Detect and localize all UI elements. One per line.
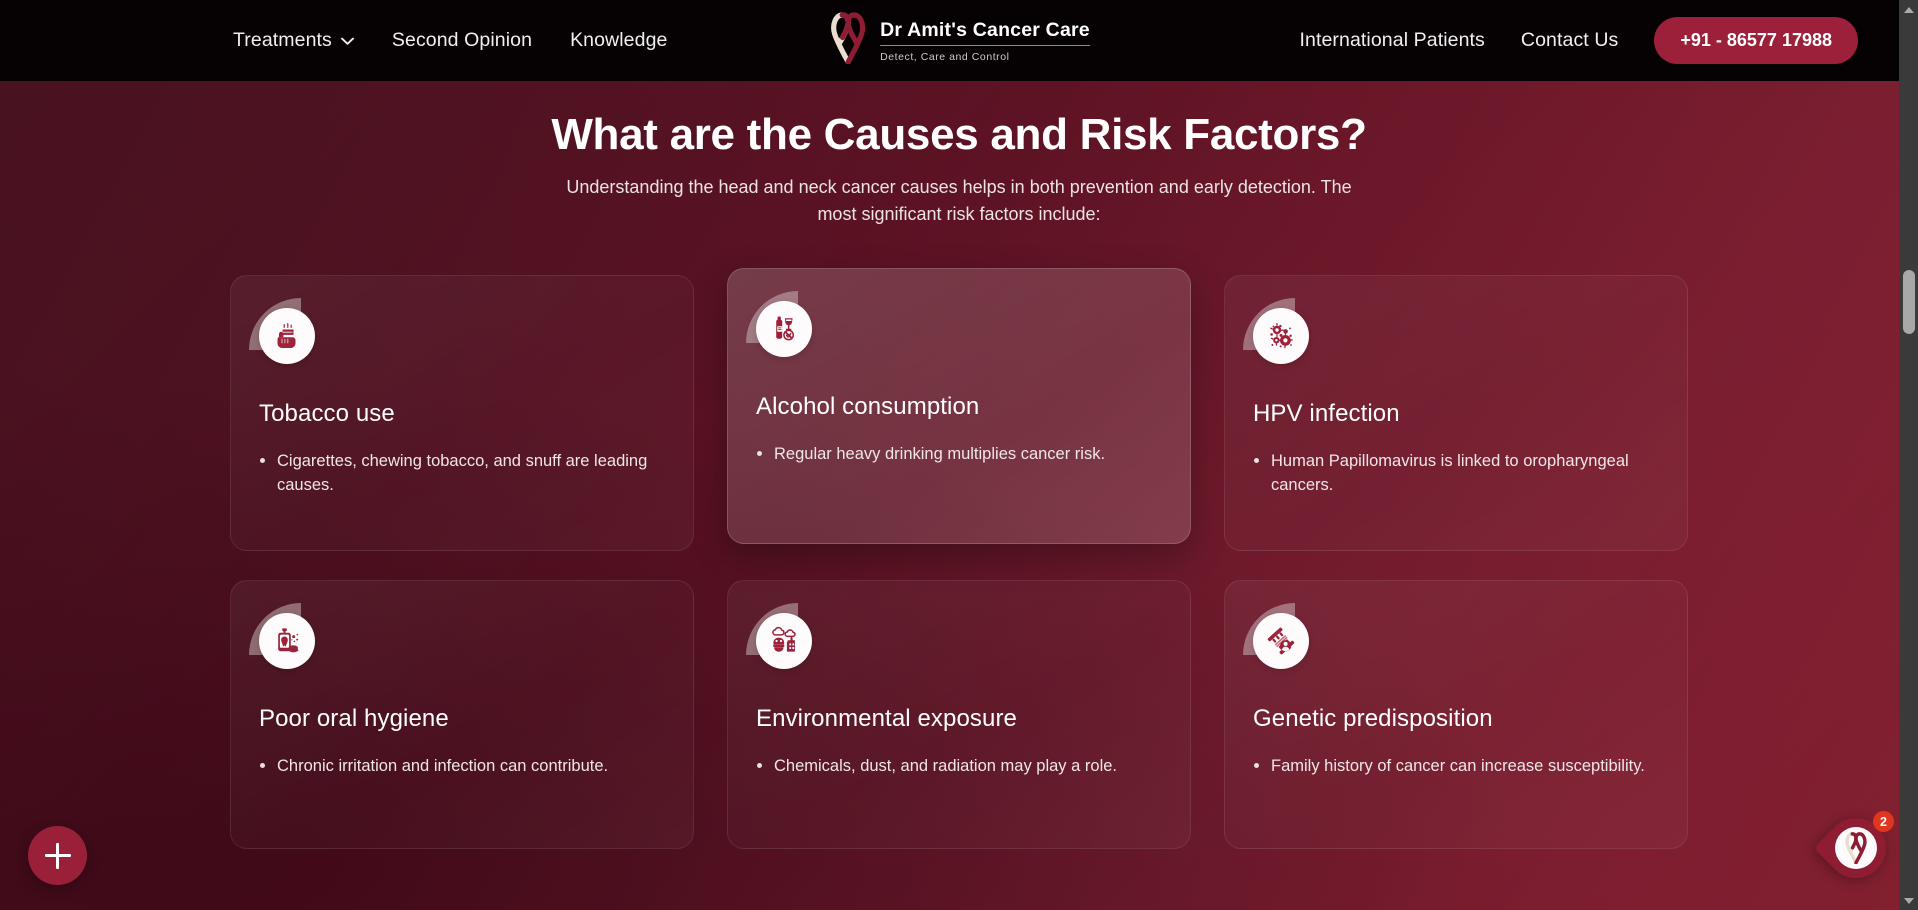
nav-item-treatments-label: Treatments [233, 29, 332, 52]
chat-unread-badge: 2 [1873, 811, 1894, 832]
logo-tagline: Detect, Care and Control [880, 51, 1090, 63]
plus-icon [45, 843, 71, 869]
nav-item-treatments[interactable]: Treatments [233, 29, 354, 52]
risk-factor-card-alcohol-consumption[interactable]: Alcohol consumption Regular heavy drinki… [727, 268, 1191, 544]
card-bullet: Regular heavy drinking multiplies cancer… [756, 443, 1162, 466]
risk-factor-card-hpv-infection[interactable]: HPV infection Human Papillomavirus is li… [1224, 275, 1688, 551]
vertical-scrollbar[interactable] [1899, 0, 1918, 910]
triangle-up-icon[interactable] [1899, 0, 1918, 19]
cigarettes-in-hand-icon [259, 308, 315, 364]
card-bullet-list: Cigarettes, chewing tobacco, and snuff a… [259, 450, 665, 497]
card-bullet-list: Chemicals, dust, and radiation may play … [756, 755, 1162, 778]
dna-person-icon [1253, 613, 1309, 669]
nav-item-knowledge[interactable]: Knowledge [570, 29, 667, 52]
scrollbar-thumb[interactable] [1903, 270, 1915, 334]
page-subtitle: Understanding the head and neck cancer c… [549, 174, 1369, 227]
card-icon-block [756, 613, 822, 679]
primary-navigation-right: International Patients Contact Us +91 - … [1300, 17, 1859, 64]
card-title: Poor oral hygiene [259, 705, 665, 733]
card-bullet: Cigarettes, chewing tobacco, and snuff a… [259, 450, 665, 497]
risk-factor-card-environmental-exposure[interactable]: Environmental exposure Chemicals, dust, … [727, 580, 1191, 849]
card-bullet-list: Family history of cancer can increase su… [1253, 755, 1659, 778]
risk-factor-card-poor-oral-hygiene[interactable]: Poor oral hygiene Chronic irritation and… [230, 580, 694, 849]
card-bullet-list: Human Papillomavirus is linked to oropha… [1253, 450, 1659, 497]
nav-item-second-opinion[interactable]: Second Opinion [392, 29, 532, 52]
toothpaste-tooth-icon [259, 613, 315, 669]
page-background: Treatments Second Opinion Knowledge Dr A… [0, 0, 1918, 910]
alcohol-bottle-glass-icon [756, 301, 812, 357]
phone-call-button[interactable]: +91 - 86577 17988 [1654, 17, 1858, 64]
card-title: Environmental exposure [756, 705, 1162, 733]
risk-factor-card-genetic-predisposition[interactable]: Genetic predisposition Family history of… [1224, 580, 1688, 849]
factory-worker-smoke-icon [756, 613, 812, 669]
main-content: What are the Causes and Risk Factors? Un… [0, 81, 1918, 910]
awareness-ribbon-icon [828, 12, 868, 69]
triangle-down-icon[interactable] [1899, 891, 1918, 910]
awareness-ribbon-icon [1835, 827, 1877, 869]
primary-navigation-left: Treatments Second Opinion Knowledge [233, 29, 667, 52]
chevron-down-icon [341, 37, 354, 45]
page-title: What are the Causes and Risk Factors? [0, 110, 1918, 160]
card-title: HPV infection [1253, 400, 1659, 428]
card-title: Tobacco use [259, 400, 665, 428]
card-icon-block [259, 613, 325, 679]
card-title: Alcohol consumption [756, 393, 1162, 421]
card-bullet: Chronic irritation and infection can con… [259, 755, 665, 778]
risk-factor-card-grid: Tobacco use Cigarettes, chewing tobacco,… [230, 275, 1688, 849]
logo-title: Dr Amit's Cancer Care [880, 19, 1090, 46]
chat-widget-button[interactable]: 2 [1826, 818, 1890, 890]
card-bullet: Chemicals, dust, and radiation may play … [756, 755, 1162, 778]
card-bullet: Family history of cancer can increase su… [1253, 755, 1659, 778]
card-icon-block [259, 308, 325, 374]
card-bullet: Human Papillomavirus is linked to oropha… [1253, 450, 1659, 497]
card-icon-block [1253, 613, 1319, 679]
nav-item-international-patients[interactable]: International Patients [1300, 29, 1485, 52]
virus-icon [1253, 308, 1309, 364]
nav-item-contact-us[interactable]: Contact Us [1521, 29, 1618, 52]
risk-factor-card-tobacco-use[interactable]: Tobacco use Cigarettes, chewing tobacco,… [230, 275, 694, 551]
card-bullet-list: Regular heavy drinking multiplies cancer… [756, 443, 1162, 466]
card-bullet-list: Chronic irritation and infection can con… [259, 755, 665, 778]
site-logo[interactable]: Dr Amit's Cancer Care Detect, Care and C… [828, 12, 1090, 69]
card-title: Genetic predisposition [1253, 705, 1659, 733]
add-floating-action-button[interactable] [28, 826, 87, 885]
card-icon-block [756, 301, 822, 367]
site-header: Treatments Second Opinion Knowledge Dr A… [0, 0, 1918, 81]
card-icon-block [1253, 308, 1319, 374]
